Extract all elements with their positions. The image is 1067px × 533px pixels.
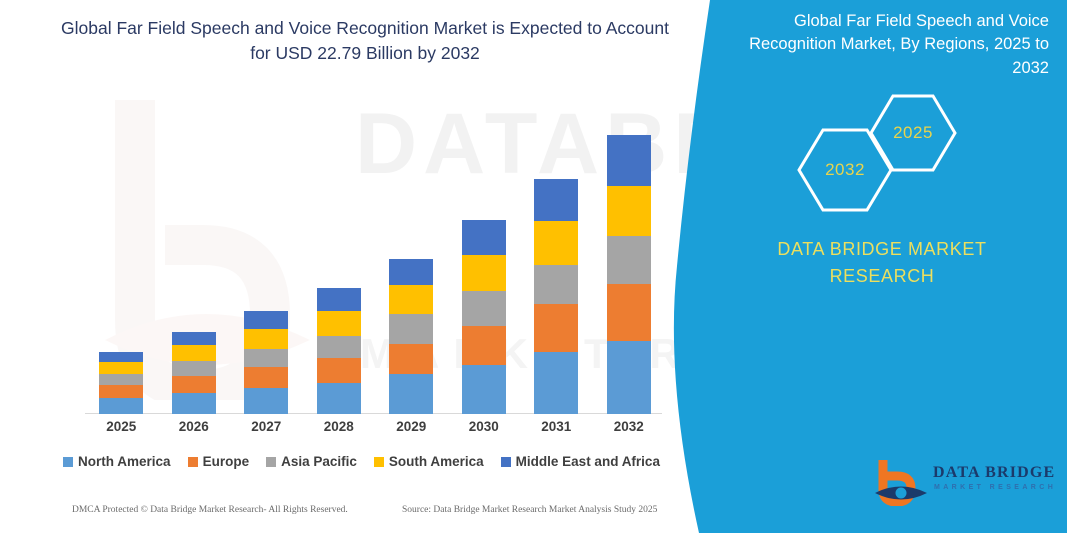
logo-company-name: DATA BRIDGE xyxy=(933,464,1055,482)
bar-segment-2027-middle-east-and-africa[interactable] xyxy=(244,311,288,329)
x-axis-label-2026: 2026 xyxy=(164,419,224,434)
bar-segment-2028-middle-east-and-africa[interactable] xyxy=(317,288,361,311)
bar-segment-2027-south-america[interactable] xyxy=(244,329,288,350)
x-axis-label-2027: 2027 xyxy=(236,419,296,434)
bar-segment-2032-middle-east-and-africa[interactable] xyxy=(607,135,651,186)
x-axis-label-2031: 2031 xyxy=(526,419,586,434)
x-axis-label-2028: 2028 xyxy=(309,419,369,434)
data-bridge-logo-mark-icon xyxy=(875,460,927,506)
legend-swatch-icon xyxy=(188,457,198,467)
bar-segment-2031-north-america[interactable] xyxy=(534,352,578,414)
legend-label: Europe xyxy=(203,454,250,469)
bar-segment-2030-asia-pacific[interactable] xyxy=(462,291,506,327)
bar-group-2026 xyxy=(172,101,216,414)
brand-name-line-2: RESEARCH xyxy=(717,263,1047,290)
legend-label: South America xyxy=(389,454,484,469)
legend-swatch-icon xyxy=(63,457,73,467)
x-axis-labels: 20252026202720282029203020312032 xyxy=(85,419,665,441)
brand-side-panel: Global Far Field Speech and Voice Recogn… xyxy=(667,0,1067,533)
bar-segment-2026-europe[interactable] xyxy=(172,376,216,393)
legend-swatch-icon xyxy=(266,457,276,467)
x-axis-label-2030: 2030 xyxy=(454,419,514,434)
logo-tagline: MARKET RESEARCH xyxy=(934,484,1056,491)
x-axis-label-2025: 2025 xyxy=(91,419,151,434)
bar-group-2025 xyxy=(99,101,143,414)
bar-segment-2025-asia-pacific[interactable] xyxy=(99,374,143,384)
bar-segment-2030-middle-east-and-africa[interactable] xyxy=(462,220,506,256)
legend-label: North America xyxy=(78,454,171,469)
legend-item-north-america[interactable]: North America xyxy=(63,454,171,469)
bar-segment-2025-north-america[interactable] xyxy=(99,398,143,414)
bar-segment-2027-north-america[interactable] xyxy=(244,388,288,414)
bar-segment-2029-north-america[interactable] xyxy=(389,374,433,414)
bar-stack[interactable] xyxy=(99,352,143,414)
bar-segment-2029-asia-pacific[interactable] xyxy=(389,314,433,345)
footer-copyright: DMCA Protected © Data Bridge Market Rese… xyxy=(72,505,348,515)
bar-segment-2028-asia-pacific[interactable] xyxy=(317,336,361,358)
bar-chart-plot-area xyxy=(85,100,665,414)
bar-group-2030 xyxy=(462,101,506,414)
legend-item-middle-east-and-africa[interactable]: Middle East and Africa xyxy=(501,454,660,469)
bar-segment-2026-north-america[interactable] xyxy=(172,393,216,414)
hexagon-badge-2025-label: 2025 xyxy=(893,123,933,143)
x-axis-label-2029: 2029 xyxy=(381,419,441,434)
bar-group-2028 xyxy=(317,101,361,414)
bar-segment-2030-europe[interactable] xyxy=(462,326,506,364)
bar-segment-2029-europe[interactable] xyxy=(389,344,433,373)
bar-segment-2031-middle-east-and-africa[interactable] xyxy=(534,179,578,221)
bar-segment-2028-south-america[interactable] xyxy=(317,311,361,336)
legend-swatch-icon xyxy=(501,457,511,467)
bar-segment-2029-middle-east-and-africa[interactable] xyxy=(389,259,433,286)
bar-segment-2028-north-america[interactable] xyxy=(317,383,361,414)
bar-segment-2031-asia-pacific[interactable] xyxy=(534,265,578,305)
hexagon-badge-2032-label: 2032 xyxy=(825,160,865,180)
chart-footer: DMCA Protected © Data Bridge Market Rese… xyxy=(0,505,723,529)
brand-name-block: DATA BRIDGE MARKET RESEARCH xyxy=(717,236,1047,291)
bar-stack[interactable] xyxy=(389,259,433,414)
chart-legend: North AmericaEuropeAsia PacificSouth Ame… xyxy=(0,454,723,469)
bar-segment-2030-north-america[interactable] xyxy=(462,365,506,414)
bar-segment-2031-south-america[interactable] xyxy=(534,221,578,265)
bar-segment-2027-europe[interactable] xyxy=(244,367,288,388)
company-logo: DATA BRIDGE MARKET RESEARCH xyxy=(875,458,1055,510)
hexagon-badge-2025: 2025 xyxy=(867,92,959,174)
bar-segment-2032-north-america[interactable] xyxy=(607,341,651,415)
bar-group-2031 xyxy=(534,101,578,414)
bar-segment-2025-europe[interactable] xyxy=(99,385,143,398)
bar-segment-2026-middle-east-and-africa[interactable] xyxy=(172,332,216,345)
bar-segment-2031-europe[interactable] xyxy=(534,304,578,351)
bar-stack[interactable] xyxy=(462,220,506,414)
bar-group-2029 xyxy=(389,101,433,414)
legend-item-south-america[interactable]: South America xyxy=(374,454,484,469)
bar-stack[interactable] xyxy=(172,332,216,414)
legend-swatch-icon xyxy=(374,457,384,467)
bar-segment-2025-middle-east-and-africa[interactable] xyxy=(99,352,143,362)
legend-label: Asia Pacific xyxy=(281,454,357,469)
bar-segment-2032-asia-pacific[interactable] xyxy=(607,236,651,284)
chart-panel: Global Far Field Speech and Voice Recogn… xyxy=(0,0,723,533)
bar-segment-2032-europe[interactable] xyxy=(607,284,651,340)
brand-name-line-1: DATA BRIDGE MARKET xyxy=(717,236,1047,263)
bar-segment-2025-south-america[interactable] xyxy=(99,362,143,374)
bar-stack[interactable] xyxy=(534,179,578,414)
bar-segment-2026-asia-pacific[interactable] xyxy=(172,361,216,376)
panel-title: Global Far Field Speech and Voice Recogn… xyxy=(729,10,1049,80)
bar-segment-2032-south-america[interactable] xyxy=(607,186,651,237)
legend-item-asia-pacific[interactable]: Asia Pacific xyxy=(266,454,357,469)
x-axis-label-2032: 2032 xyxy=(599,419,659,434)
chart-title: Global Far Field Speech and Voice Recogn… xyxy=(60,16,670,67)
bar-segment-2027-asia-pacific[interactable] xyxy=(244,349,288,367)
hexagon-badges: 2032 2025 xyxy=(757,90,1057,220)
bar-group-2027 xyxy=(244,101,288,414)
footer-source: Source: Data Bridge Market Research Mark… xyxy=(402,505,657,515)
legend-label: Middle East and Africa xyxy=(516,454,660,469)
bar-segment-2026-south-america[interactable] xyxy=(172,345,216,362)
bar-segment-2028-europe[interactable] xyxy=(317,358,361,383)
legend-item-europe[interactable]: Europe xyxy=(188,454,250,469)
bar-stack[interactable] xyxy=(607,135,651,414)
bar-segment-2030-south-america[interactable] xyxy=(462,255,506,291)
bar-stack[interactable] xyxy=(244,311,288,414)
bar-stack[interactable] xyxy=(317,288,361,414)
bar-segment-2029-south-america[interactable] xyxy=(389,285,433,314)
bar-group-2032 xyxy=(607,101,651,414)
